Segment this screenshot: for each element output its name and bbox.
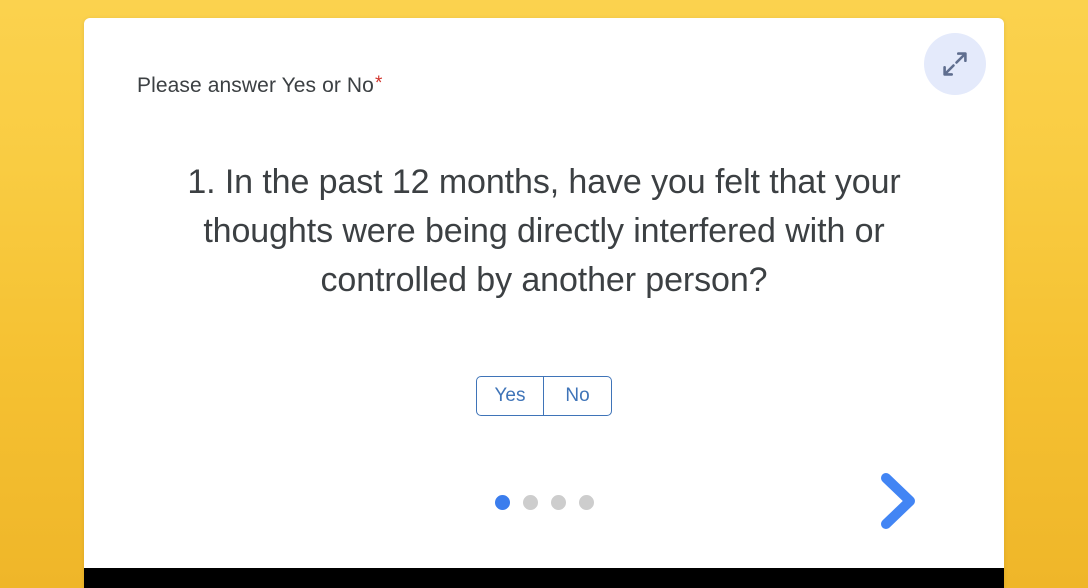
- pagination-dots: [84, 495, 1004, 510]
- answer-button-group: Yes No: [476, 376, 612, 416]
- pagination-dot-2[interactable]: [523, 495, 538, 510]
- answer-options: Yes No: [84, 376, 1004, 416]
- question-text: 1. In the past 12 months, have you felt …: [144, 158, 944, 305]
- answer-button-yes[interactable]: Yes: [476, 376, 544, 416]
- page-root: Please answer Yes or No * 1. In: [0, 0, 1088, 588]
- answer-button-no[interactable]: No: [544, 376, 612, 416]
- bottom-black-bar: [84, 568, 1004, 588]
- pagination-dot-1[interactable]: [495, 495, 510, 510]
- expand-diagonal-arrows-icon: [940, 49, 970, 79]
- next-button[interactable]: [868, 470, 928, 536]
- survey-card: Please answer Yes or No * 1. In: [84, 18, 1004, 588]
- pagination-dot-3[interactable]: [551, 495, 566, 510]
- pagination-dot-4[interactable]: [579, 495, 594, 510]
- required-asterisk: *: [375, 74, 382, 93]
- card-header: Please answer Yes or No *: [137, 73, 382, 98]
- expand-button[interactable]: [924, 33, 986, 95]
- chevron-right-icon: [875, 470, 921, 537]
- instruction-label: Please answer Yes or No: [137, 73, 374, 98]
